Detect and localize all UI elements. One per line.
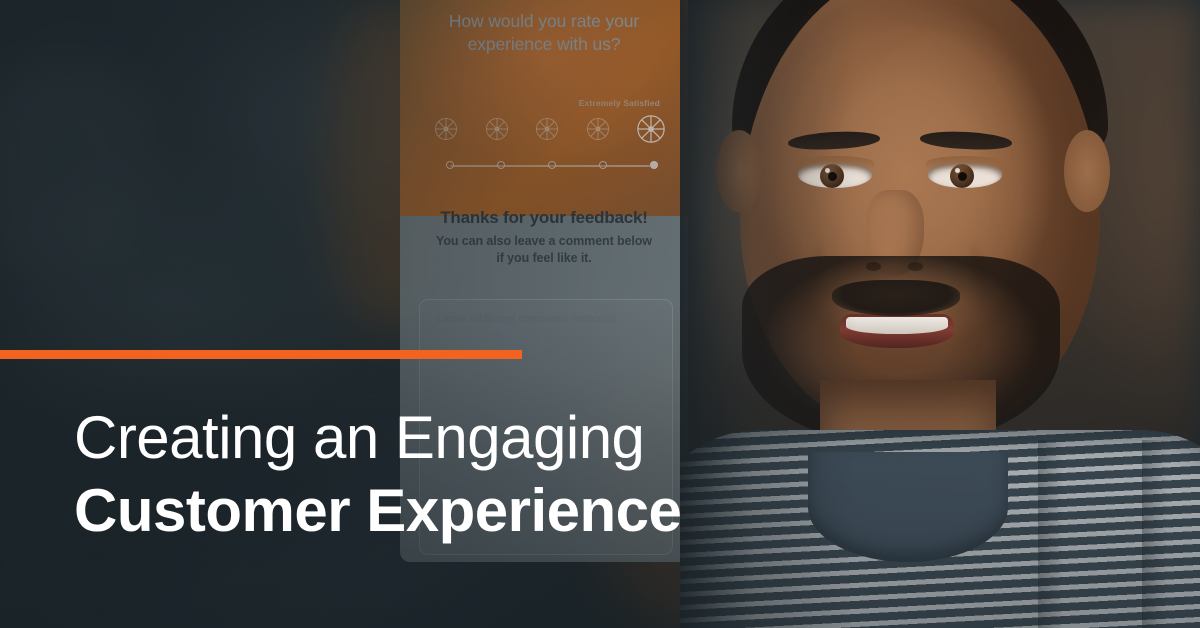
banner-canvas: How would you rate your experience with … xyxy=(0,0,1200,628)
bokeh-blob xyxy=(110,200,350,320)
rating-slider[interactable] xyxy=(446,161,654,171)
flower-rating-icon[interactable] xyxy=(586,117,610,141)
flower-rating-icon[interactable] xyxy=(485,117,509,141)
accent-bar xyxy=(0,350,522,359)
survey-question: How would you rate your experience with … xyxy=(414,10,674,57)
headline-line-2: Customer Experience xyxy=(74,477,794,544)
slider-stop[interactable] xyxy=(497,161,505,169)
slider-stop[interactable] xyxy=(446,161,454,169)
rating-scale-label: Extremely Satisfied xyxy=(579,98,660,108)
slider-stop-selected[interactable] xyxy=(650,161,658,169)
page-title: Creating an Engaging Customer Experience xyxy=(74,406,794,544)
thanks-title: Thanks for your feedback! xyxy=(412,208,676,228)
flower-rating-icon[interactable] xyxy=(535,117,559,141)
rating-icon-row[interactable] xyxy=(434,114,666,144)
slider-stop[interactable] xyxy=(548,161,556,169)
flower-rating-icon[interactable] xyxy=(434,117,458,141)
headline-line-1: Creating an Engaging xyxy=(74,406,794,471)
slider-stop[interactable] xyxy=(599,161,607,169)
survey-card-top-panel: How would you rate your experience with … xyxy=(400,0,688,216)
flower-rating-icon-selected[interactable] xyxy=(636,114,666,144)
thanks-subtitle: You can also leave a comment below if yo… xyxy=(434,233,654,268)
comment-placeholder-text: Leave additional comments (optional)... xyxy=(437,313,625,325)
